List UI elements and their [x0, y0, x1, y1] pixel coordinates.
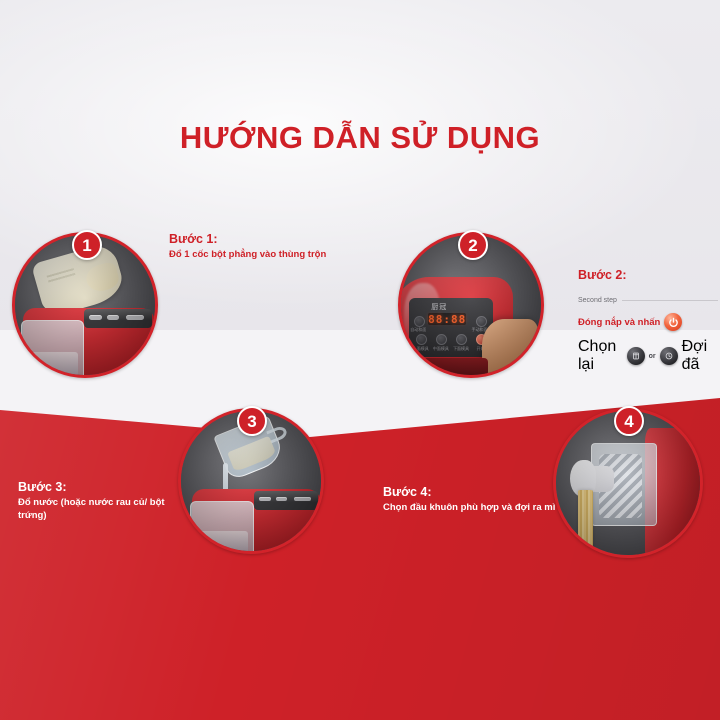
step-4-body: Chọn đầu khuôn phù hợp và đợi ra mì [383, 502, 568, 515]
step-1-heading: Bước 1: [169, 232, 329, 246]
reset-wait-row: Chọn lại or Đợi đã [578, 338, 718, 374]
step-badge-2: 2 [458, 230, 488, 260]
step-4-heading: Bước 4: [383, 485, 568, 499]
step-3-body: Đổ nước (hoặc nước rau củ/ bột trứng) [18, 497, 193, 523]
step-2-heading: Bước 2: [578, 268, 718, 282]
wait-label: Đợi đã [682, 338, 718, 374]
step-badge-1: 1 [72, 230, 102, 260]
step-3-heading: Bước 3: [18, 480, 193, 494]
second-step-label: Second step [578, 297, 617, 304]
press-power-row: Đóng nắp và nhấn [578, 313, 718, 331]
step-3-text: Bước 3: Đổ nước (hoặc nước rau củ/ bột t… [18, 480, 193, 523]
reset-label: Chọn lại [578, 338, 623, 374]
or-label: or [649, 353, 656, 360]
wait-timer-icon[interactable] [660, 347, 678, 365]
reset-mold-icon[interactable] [627, 347, 645, 365]
step-4-text: Bước 4: Chọn đầu khuôn phù hợp và đợi ra… [383, 485, 568, 515]
press-power-label: Đóng nắp và nhấn [578, 317, 660, 328]
power-icon[interactable] [664, 313, 682, 331]
step-1-text: Bước 1: Đổ 1 cốc bột phẳng vào thùng trộ… [169, 232, 329, 262]
step-badge-4: 4 [614, 406, 644, 436]
step-badge-3: 3 [237, 406, 267, 436]
divider-rule [622, 300, 718, 301]
step-1-body: Đổ 1 cốc bột phẳng vào thùng trộn [169, 249, 329, 262]
second-step-caption: Second step [578, 297, 718, 304]
instruction-poster: HƯỚNG DẪN SỬ DỤNG 厨冠 [0, 0, 720, 720]
step-2-text: Bước 2: Second step Đóng nắp và nhấn Chọ… [578, 268, 718, 374]
page-title: HƯỚNG DẪN SỬ DỤNG [0, 120, 720, 156]
